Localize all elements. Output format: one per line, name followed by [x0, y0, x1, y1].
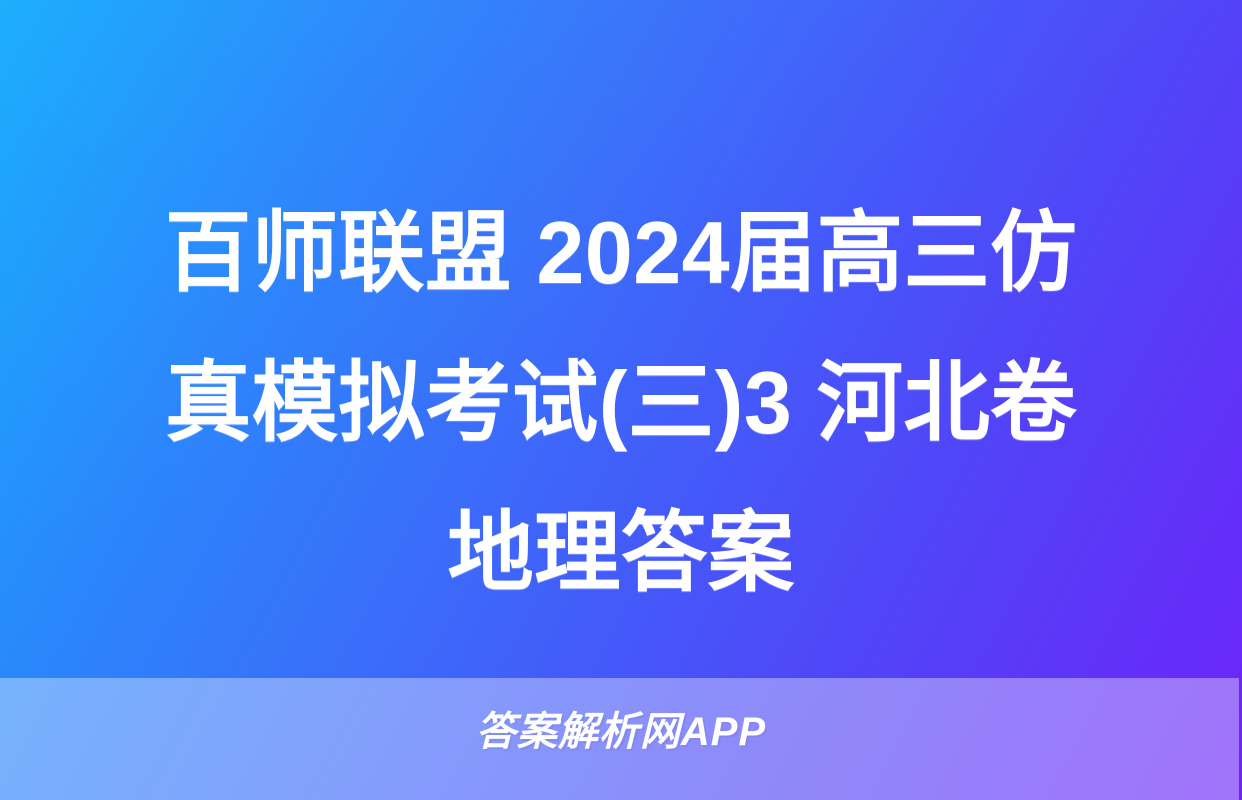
- title-line-3: 地理答案: [36, 478, 1206, 628]
- watermark-text: 答案解析网APP: [0, 706, 1242, 758]
- page-title: 百师联盟 2024届高三仿 真模拟考试(三)3 河北卷 地理答案: [0, 178, 1242, 628]
- answer-banner: 百师联盟 2024届高三仿 真模拟考试(三)3 河北卷 地理答案 答案解析网AP…: [0, 0, 1242, 800]
- title-line-1: 百师联盟 2024届高三仿: [36, 178, 1206, 328]
- title-line-2: 真模拟考试(三)3 河北卷: [36, 328, 1206, 478]
